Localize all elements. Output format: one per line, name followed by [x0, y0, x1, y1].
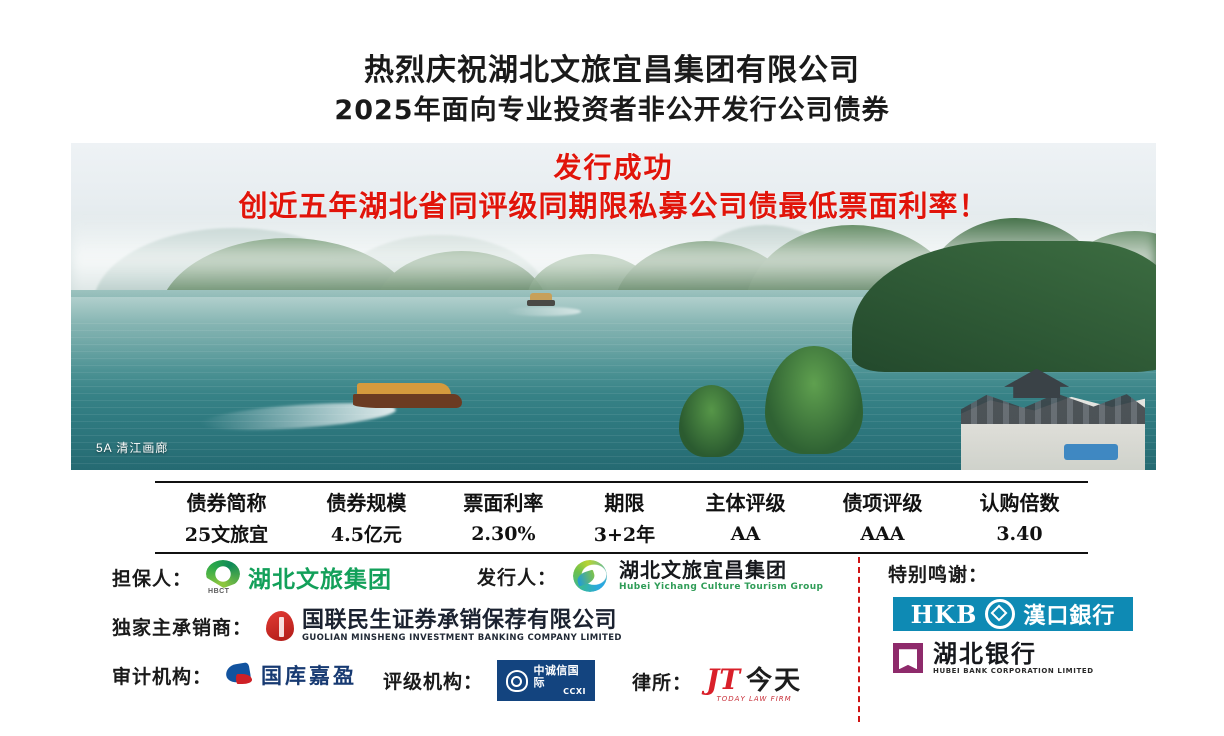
hubei-culture-tourism-group-logo: HBCT 湖北文旅集团 [206, 560, 392, 594]
guolian-minsheng-logo: 国联民生证券承销保荐有限公司 GUOLIAN MINSHENG INVESTME… [266, 610, 622, 643]
underwriter-label: 独家主承销商： [112, 613, 252, 640]
special-thanks-label: 特别鸣谢： [888, 560, 988, 587]
table-cell-subscription-multiple: 3.40 [951, 518, 1088, 553]
guarantor-label: 担保人： [112, 564, 192, 591]
hbct-abbr: HBCT [208, 588, 229, 595]
law-firm-row: 律所： JT 今天 TODAY LAW FIRM [632, 660, 802, 703]
underwriter-row: 独家主承销商： 国联民生证券承销保荐有限公司 GUOLIAN MINSHENG … [112, 610, 622, 643]
auditor-row: 审计机构： 国库嘉盈 [112, 660, 357, 690]
hkb-abbr-text: HKB [911, 600, 978, 629]
underwriter-logo-text-cn: 国联民生证券承销保荐有限公司 [302, 610, 622, 632]
blue-pool [1064, 444, 1118, 460]
guarantor-logo-text: 湖北文旅集团 [248, 560, 392, 594]
circular-swirl-icon [571, 558, 611, 594]
table-header-row: 债券简称 债券规模 票面利率 期限 主体评级 债项评级 认购倍数 [155, 482, 1088, 518]
rating-agency-row: 评级机构： 中诚信国际 CCXI [383, 660, 595, 701]
law-firm-label: 律所： [632, 668, 692, 695]
headline-line-2: 创近五年湖北省同评级同期限私募公司债最低票面利率！ [71, 188, 1156, 226]
poster-root: 热烈庆祝湖北文旅宜昌集团有限公司 2025年面向专业投资者非公开发行公司债券 [0, 0, 1224, 736]
table-header-cell: 票面利率 [435, 482, 572, 518]
scenery-photo: 发行成功 创近五年湖北省同评级同期限私募公司债最低票面利率！ 5A 清江画廊 [71, 143, 1156, 470]
bond-summary-table: 债券简称 债券规模 票面利率 期限 主体评级 债项评级 认购倍数 25文旅宜 4… [155, 481, 1088, 554]
table-header-cell: 期限 [572, 482, 677, 518]
table-header-cell: 认购倍数 [951, 482, 1088, 518]
guoku-jiaying-logo: 国库嘉盈 [226, 660, 357, 690]
dashed-divider [858, 557, 860, 722]
hubei-bank-text-en: HUBEI BANK CORPORATION LIMITED [933, 668, 1094, 675]
table-header-cell: 债项评级 [814, 482, 951, 518]
today-law-firm-logo: JT 今天 TODAY LAW FIRM [706, 660, 802, 703]
green-swirl-icon: HBCT [206, 560, 242, 594]
jt-monogram-icon: JT [706, 663, 740, 696]
table-cell-issuer-rating: AA [677, 518, 814, 553]
law-logo-text-cn: 今天 [746, 660, 802, 697]
blue-red-swoosh-icon [226, 662, 256, 688]
table-cell-bond-size: 4.5亿元 [298, 518, 435, 553]
hubei-bank-text-cn: 湖北银行 [933, 641, 1094, 666]
hubei-bank-emblem-icon [893, 643, 923, 673]
law-logo-text-en: TODAY LAW FIRM [716, 695, 791, 703]
table-cell-bond-rating: AAA [814, 518, 951, 553]
table-cell-coupon-rate: 2.30% [435, 518, 572, 553]
table-row: 25文旅宜 4.5亿元 2.30% 3+2年 AA AAA 3.40 [155, 518, 1088, 553]
issuer-logo-text-en: Hubei Yichang Culture Tourism Group [619, 583, 823, 592]
photo-caption: 5A 清江画廊 [96, 439, 168, 456]
headline-line-1: 发行成功 [71, 150, 1156, 186]
title-line-1: 热烈庆祝湖北文旅宜昌集团有限公司 [0, 52, 1224, 90]
rating-agency-label: 评级机构： [383, 667, 483, 694]
table-header-cell: 主体评级 [677, 482, 814, 518]
hkb-text-cn: 漢口銀行 [1023, 598, 1115, 630]
distant-boat [527, 293, 555, 306]
hankou-bank-logo: HKB 漢口銀行 [893, 597, 1133, 631]
underwriter-logo-text-en: GUOLIAN MINSHENG INVESTMENT BANKING COMP… [302, 634, 622, 643]
yichang-group-logo: 湖北文旅宜昌集团 Hubei Yichang Culture Tourism G… [571, 558, 823, 594]
photo-headline: 发行成功 创近五年湖北省同评级同期限私募公司债最低票面利率！ [71, 150, 1156, 226]
table-header-cell: 债券简称 [155, 482, 298, 518]
hkb-emblem-icon [985, 599, 1015, 629]
table-header-cell: 债券规模 [298, 482, 435, 518]
red-flame-icon [266, 611, 296, 643]
hubei-bank-logo: 湖北银行 HUBEI BANK CORPORATION LIMITED [893, 641, 1094, 676]
issuer-label: 发行人： [477, 563, 557, 590]
issuer-row: 发行人： 湖北文旅宜昌集团 Hubei Yichang Culture Tour… [477, 558, 823, 594]
ccxi-logo: 中诚信国际 CCXI [497, 660, 595, 701]
distant-boat-wake [505, 307, 581, 317]
title-line-2: 2025年面向专业投资者非公开发行公司债券 [0, 94, 1224, 128]
issuer-logo-text-cn: 湖北文旅宜昌集团 [619, 560, 823, 581]
page-title: 热烈庆祝湖北文旅宜昌集团有限公司 2025年面向专业投资者非公开发行公司债券 [0, 52, 1224, 127]
table-cell-tenor: 3+2年 [572, 518, 677, 553]
rating-logo-text-en: CCXI [533, 688, 586, 696]
auditor-logo-text: 国库嘉盈 [261, 660, 357, 690]
guarantor-row: 担保人： HBCT 湖北文旅集团 [112, 560, 392, 594]
table-cell-bond-name: 25文旅宜 [155, 518, 298, 553]
tour-boat [353, 378, 462, 407]
elephant-icon [506, 670, 528, 692]
rating-logo-text-cn: 中诚信国际 [533, 665, 586, 688]
auditor-label: 审计机构： [112, 662, 212, 689]
